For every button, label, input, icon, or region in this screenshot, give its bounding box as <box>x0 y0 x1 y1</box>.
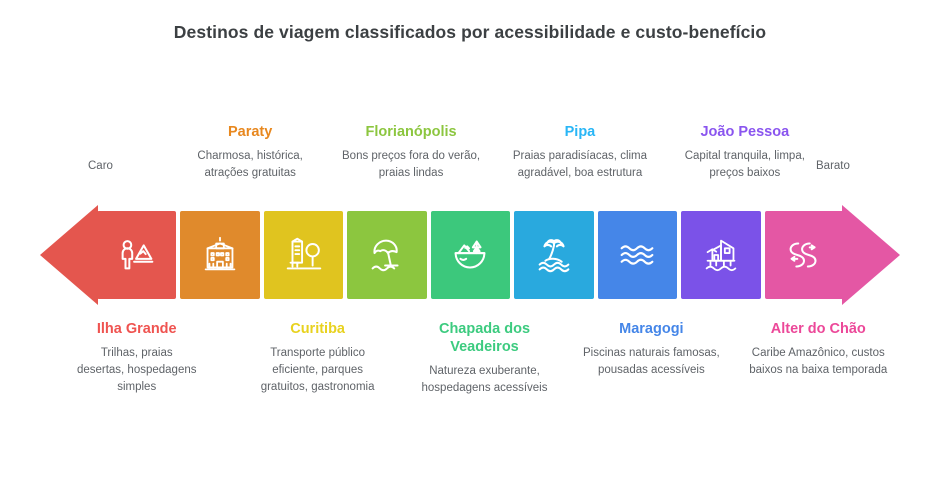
winding-river-icon <box>781 232 827 278</box>
beach-umbrella-icon <box>364 232 410 278</box>
palm-island-icon <box>531 232 577 278</box>
destination-callout: Chapada dos VeadeirosNatureza exuberante… <box>415 320 555 397</box>
destination-tile-2[interactable] <box>180 211 259 299</box>
destination-description: Charmosa, histórica, atrações gratuitas <box>175 148 325 182</box>
destination-name: Alter do Chão <box>748 320 888 338</box>
destination-description: Natureza exuberante, hospedagens acessív… <box>415 363 555 397</box>
destination-callout: ParatyCharmosa, histórica, atrações grat… <box>175 123 325 182</box>
destination-tile-9[interactable] <box>765 211 844 299</box>
destination-description: Capital tranquila, limpa, preços baixos <box>675 148 815 182</box>
destination-description: Transporte público eficiente, parques gr… <box>250 345 385 396</box>
destination-name: Ilha Grande <box>77 320 197 338</box>
destination-callout: CuritibaTransporte público eficiente, pa… <box>250 320 385 396</box>
destination-tile-1[interactable] <box>97 211 176 299</box>
destination-description: Bons preços fora do verão, praias lindas <box>339 148 484 182</box>
arrow-head-right-icon <box>842 205 900 305</box>
destination-name: Curitiba <box>250 320 385 338</box>
destination-name: Florianópolis <box>339 123 484 141</box>
destination-description: Caribe Amazônico, custos baixos na baixa… <box>748 345 888 379</box>
page-title: Destinos de viagem classificados por ace… <box>0 22 940 43</box>
destination-description: Piscinas naturais famosas, pousadas aces… <box>579 345 724 379</box>
destination-description: Praias paradisíacas, clima agradável, bo… <box>505 148 655 182</box>
destination-callout: Ilha GrandeTrilhas, praias desertas, hos… <box>77 320 197 396</box>
colonial-building-icon <box>197 232 243 278</box>
destination-name: João Pessoa <box>675 123 815 141</box>
destination-tile-4[interactable] <box>347 211 426 299</box>
destination-callout: João PessoaCapital tranquila, limpa, pre… <box>675 123 815 182</box>
destination-tiles <box>97 211 844 299</box>
destination-tile-7[interactable] <box>598 211 677 299</box>
destination-name: Chapada dos Veadeiros <box>415 320 555 356</box>
destination-callout: FlorianópolisBons preços fora do verão, … <box>339 123 484 182</box>
destination-tile-6[interactable] <box>514 211 593 299</box>
destination-name: Paraty <box>175 123 325 141</box>
waves-icon <box>614 232 660 278</box>
hiker-mountain-icon <box>114 232 160 278</box>
destination-name: Pipa <box>505 123 655 141</box>
scale-label-cheap: Barato <box>816 160 850 172</box>
destination-callout: Alter do ChãoCaribe Amazônico, custos ba… <box>748 320 888 379</box>
ranking-arrow-band <box>0 205 940 305</box>
destination-tile-8[interactable] <box>681 211 760 299</box>
stilt-houses-icon <box>698 232 744 278</box>
city-park-icon <box>281 232 327 278</box>
destination-callout: PipaPraias paradisíacas, clima agradável… <box>505 123 655 182</box>
nature-globe-icon <box>447 232 493 278</box>
destination-description: Trilhas, praias desertas, hospedagens si… <box>77 345 197 396</box>
destination-callout: MaragogiPiscinas naturais famosas, pousa… <box>579 320 724 379</box>
destination-name: Maragogi <box>579 320 724 338</box>
destination-tile-5[interactable] <box>431 211 510 299</box>
destination-tile-3[interactable] <box>264 211 343 299</box>
scale-label-expensive: Caro <box>88 160 113 172</box>
arrow-head-left-icon <box>40 205 98 305</box>
